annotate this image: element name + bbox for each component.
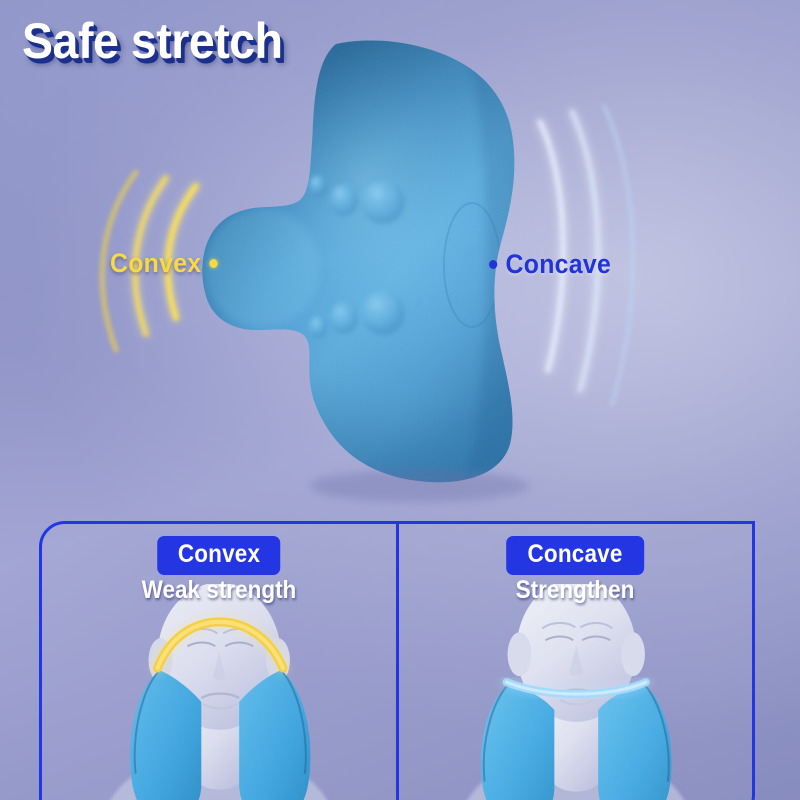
product-infographic: Safe stretch Convex Concave Convex Weak … (0, 0, 800, 800)
page-title: Safe stretch (22, 16, 283, 66)
cushion-left (480, 684, 553, 800)
ear-right (621, 632, 645, 676)
badge-convex: Convex (157, 536, 281, 575)
callout-convex: Convex (110, 248, 218, 279)
caption-strengthen: Strengthen (509, 578, 641, 603)
caption-weak-strength: Weak strength (133, 578, 305, 603)
comparison-frame: Convex Weak strength (39, 521, 755, 800)
cushion-right (598, 684, 671, 800)
convex-dot-icon (210, 259, 218, 268)
concave-dot-icon (489, 260, 497, 269)
ear-left (507, 632, 531, 676)
callout-convex-label: Convex (110, 248, 201, 279)
comparison-panel-convex: Convex Weak strength (42, 524, 399, 800)
comparison-panel-concave: Concave Strengthen (399, 524, 753, 800)
mannequin-convex-illustration (42, 584, 396, 800)
callout-concave-label: Concave (506, 249, 611, 280)
callout-concave: Concave (489, 249, 611, 280)
badge-concave: Concave (506, 536, 644, 575)
mannequin-concave-illustration (399, 584, 753, 800)
